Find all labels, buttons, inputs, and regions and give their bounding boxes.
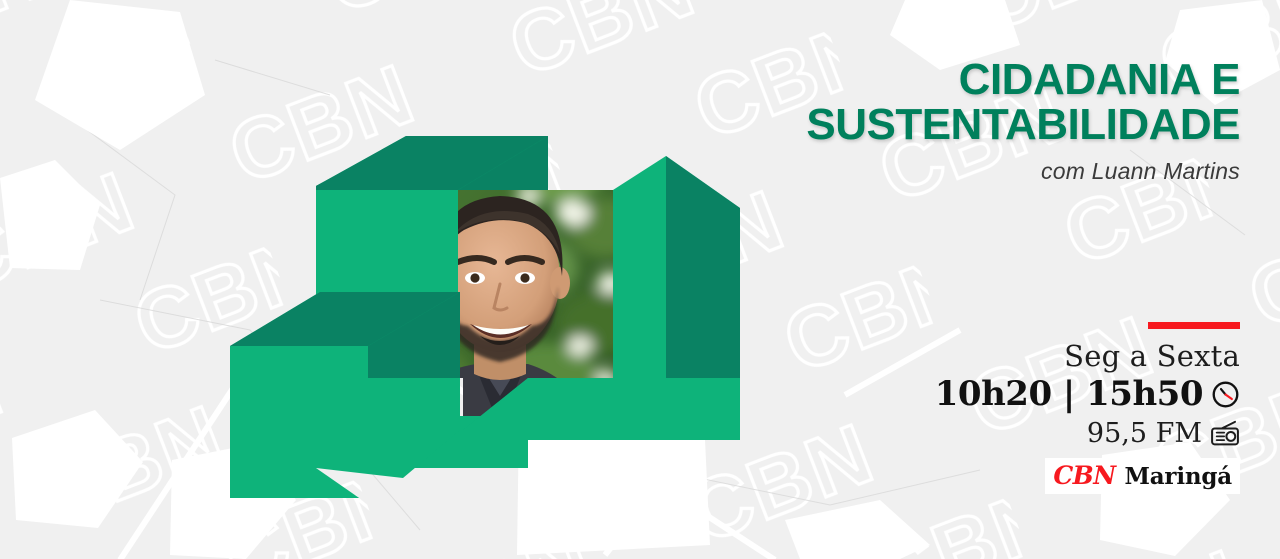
red-divider-rule: [1148, 322, 1240, 329]
schedule-block: Seg a Sexta 10h20 | 15h50 95,5 FM: [820, 322, 1240, 449]
cbn-maringa-logo: CBN Maringá: [1045, 458, 1240, 494]
cbn-wordmark: CBN: [1053, 461, 1115, 490]
schedule-times-row: 10h20 | 15h50: [820, 374, 1240, 414]
radio-show-banner: CBN CBN: [0, 0, 1280, 559]
show-title-block: CIDADANIA E SUSTENTABILIDADE com Luann M…: [600, 58, 1240, 185]
schedule-days: Seg a Sexta: [820, 340, 1240, 372]
schedule-times: 10h20 | 15h50: [935, 374, 1203, 414]
schedule-frequency-row: 95,5 FM: [820, 418, 1240, 449]
radio-icon: [1210, 420, 1240, 447]
show-title-line-1: CIDADANIA E: [600, 58, 1240, 103]
schedule-frequency: 95,5 FM: [1087, 418, 1202, 449]
clock-icon: [1211, 380, 1240, 409]
show-host-name: com Luann Martins: [600, 158, 1240, 185]
cbn-city-name: Maringá: [1124, 463, 1232, 490]
show-title-line-2: SUSTENTABILIDADE: [600, 103, 1240, 148]
